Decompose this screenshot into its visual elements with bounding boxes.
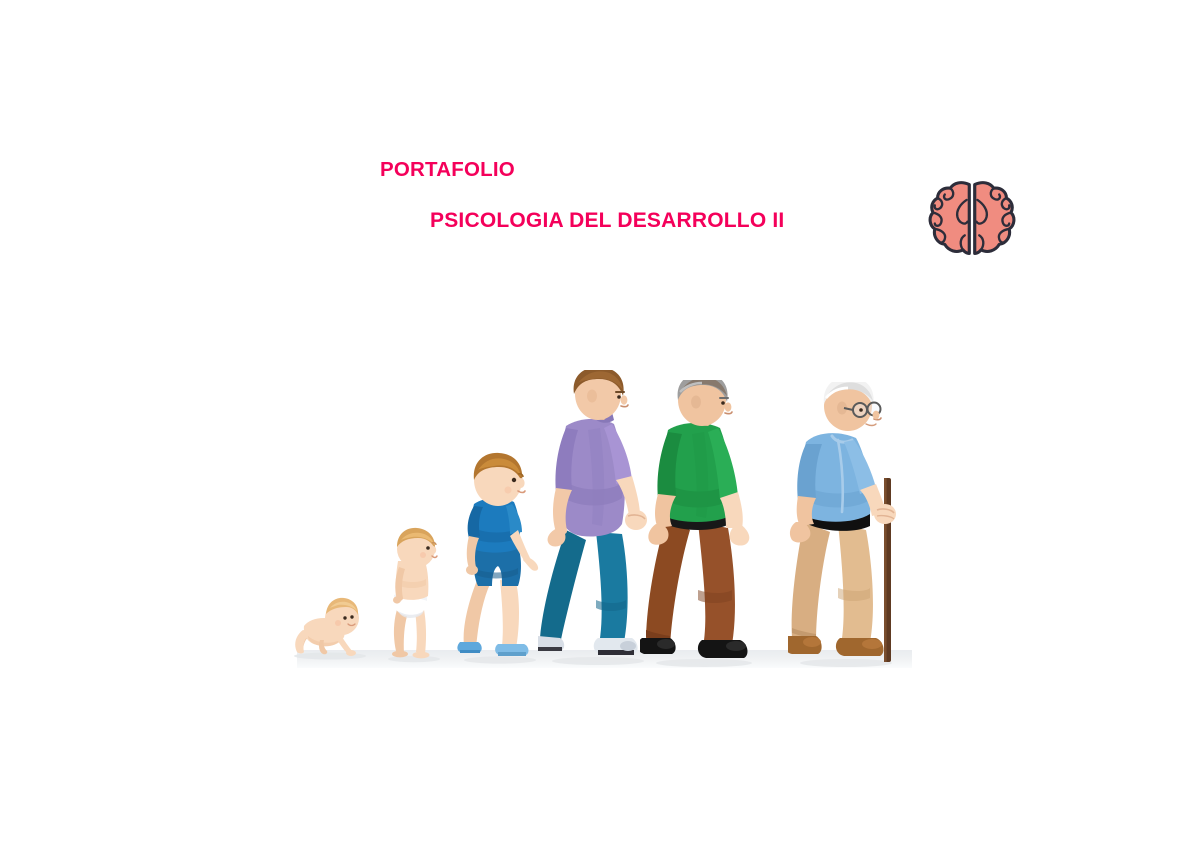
page-title-secondary: PSICOLOGIA DEL DESARROLLO II <box>430 209 784 233</box>
figure-elderly-walking-with-cane <box>788 382 913 670</box>
figure-middle-aged-walking <box>640 380 770 668</box>
figure-toddler-walking <box>380 523 452 663</box>
page-title-primary: PORTAFOLIO <box>380 158 515 182</box>
figure-child-walking <box>452 450 552 665</box>
figure-infant-crawling <box>290 590 370 660</box>
document-page: PORTAFOLIO PSICOLOGIA DEL DESARROLLO II <box>0 0 1200 849</box>
brain-icon <box>926 180 1018 258</box>
human-life-cycle-illustration <box>290 360 915 675</box>
